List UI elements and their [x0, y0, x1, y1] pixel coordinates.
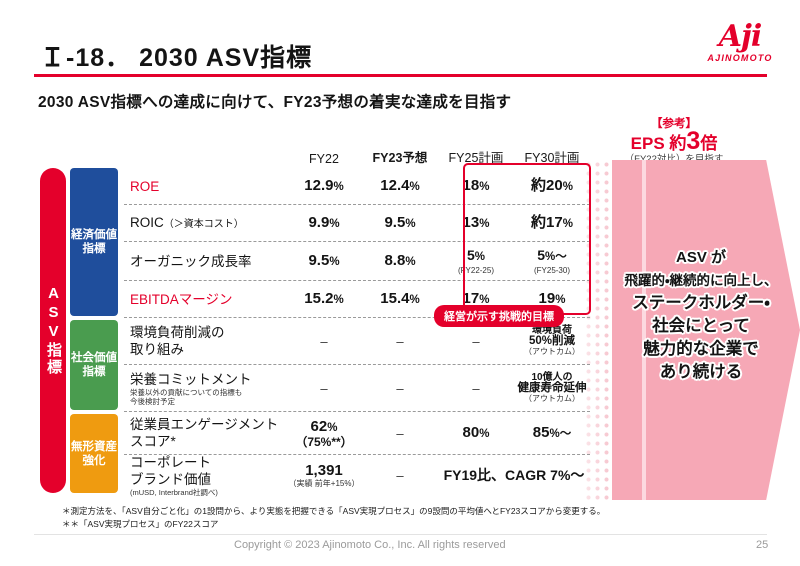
cell-value: 62: [311, 418, 328, 435]
column-header-fy25: FY25計画: [438, 147, 514, 168]
category-economic: 経済価値 指標: [70, 168, 118, 316]
page-title: Ｉ-18． 2030 ASV指標: [40, 38, 312, 74]
table-header-row: FY22 FY23予想 FY25計画 FY30計画: [124, 140, 590, 168]
row-label-engagement-text: 従業員エンゲージメント スコア*: [130, 417, 278, 449]
cell-value: 19: [539, 290, 556, 307]
cell-unit: %: [479, 428, 489, 440]
table-row: ROIC（＞資本コスト） 9.9% 9.5% 13% 約17%: [124, 205, 590, 242]
cell-value: 15.2: [304, 290, 333, 307]
vision-line-4: 社会にとって: [612, 315, 790, 338]
category-economic-label: 経済価値 指標: [71, 228, 117, 256]
cell-roe-fy22: 12.9%: [286, 177, 362, 196]
copyright-text: Copyright © 2023 Ajinomoto Co., Inc. All…: [234, 539, 506, 551]
category-social: 社会価値 指標: [70, 320, 118, 410]
vision-line-5: 魅力的な企業で: [612, 338, 790, 361]
footnote-1: ＊測定方法を、「ASV自分ごと化」の1設問から、より実態を把握できる「ASV実現…: [62, 505, 605, 517]
cell-unit: %: [333, 181, 343, 193]
cell-engagement-fy25: 80%: [438, 424, 514, 443]
category-intangible: 無形資産 強化: [70, 414, 118, 493]
logo-mark: Aji: [698, 22, 782, 52]
cell-nutrition-fy25: –: [438, 380, 514, 397]
cell-subnote: （アウトカム）: [514, 394, 590, 404]
row-label-nutrition: 栄養コミットメント栄養以外の貢献についての指標も 今後検討予定: [124, 371, 286, 406]
asv-rail-text: ASV指標: [43, 285, 63, 376]
row-label-roic-suffix: （＞資本コスト）: [164, 219, 244, 230]
cell-env-fy30: 環境負荷50%削減（アウトカム）: [514, 325, 590, 357]
cell-value: 9.9: [308, 214, 329, 231]
vision-line-2: 飛躍的・継続的に向上し、: [612, 269, 790, 292]
vision-line-1: ASV が: [612, 246, 790, 269]
cell-value: 約17: [531, 214, 563, 231]
slide-root: Aji AJINOMOTO Ｉ-18． 2030 ASV指標 2030 ASV指…: [0, 0, 800, 566]
cell-value: 12.4: [380, 177, 409, 194]
page-subtitle: 2030 ASV指標への達成に向けて、FY23予想の着実な達成を目指す: [38, 90, 511, 112]
cell-value: 15.4: [380, 290, 409, 307]
table-row: 従業員エンゲージメント スコア* 62%（75%**） – 80% 85%～: [124, 412, 590, 455]
row-label-ebitda-text: EBITDAマージン: [130, 292, 233, 307]
cell-value: 13: [463, 214, 480, 231]
cell-unit: %: [333, 294, 343, 306]
cell-unit: %: [479, 218, 489, 230]
footer-divider: [34, 534, 767, 535]
cell-roe-fy30: 約20%: [514, 177, 590, 196]
page-number: 25: [756, 539, 768, 551]
cell-subnote: (FY22-25): [438, 266, 514, 276]
eps-unit: 倍: [700, 134, 717, 153]
cell-value: 約20: [531, 177, 563, 194]
cell-nutrition-fy30: 10億人の健康寿命延伸（アウトカム）: [514, 372, 590, 404]
cell-unit: %: [555, 294, 565, 306]
eps-reference-tag: 【参考】: [604, 118, 744, 131]
cell-subnote: （アウトカム）: [514, 347, 590, 357]
row-label-roic: ROIC（＞資本コスト）: [124, 214, 286, 233]
cell-unit: %: [563, 218, 573, 230]
category-intangible-label: 無形資産 強化: [71, 440, 117, 468]
row-label-ebitda: EBITDAマージン: [124, 291, 286, 308]
cell-env-fy25: –: [438, 333, 514, 350]
cell-unit: %～: [545, 251, 567, 263]
cell-engagement-fy30: 85%～: [514, 424, 590, 443]
vision-arrow-panel: ASV が 飛躍的・継続的に向上し、 ステークホルダー・ 社会にとって 魅力的な…: [584, 160, 800, 500]
row-label-nutrition-text: 栄養コミットメント: [130, 372, 252, 387]
cell-organic-fy30: 5%～(FY25-30): [514, 247, 590, 276]
cell-brand-fy25-fy30-span: FY19比、CAGR 7%～: [438, 465, 590, 485]
cell-value: 9.5: [308, 252, 329, 269]
cell-subnote: （75%**）: [286, 437, 362, 448]
eps-label: EPS 約: [631, 134, 687, 153]
cell-roe-fy25: 18%: [438, 177, 514, 196]
cell-value: 1,391: [305, 462, 343, 479]
cell-organic-fy23: 8.8%: [362, 252, 438, 271]
cell-value: 8.8: [384, 252, 405, 269]
vision-statement: ASV が 飛躍的・継続的に向上し、 ステークホルダー・ 社会にとって 魅力的な…: [612, 246, 790, 384]
cell-roic-fy30: 約17%: [514, 214, 590, 233]
eps-callout: 【参考】 EPS 約3倍 （FY22対比）を目指す: [604, 118, 744, 166]
cell-engagement-fy23: –: [362, 425, 438, 442]
cell-value: 80: [463, 424, 480, 441]
cell-engagement-fy22: 62%（75%**）: [286, 418, 362, 448]
cell-brand-fy22: 1,391（実績 前年+15%）: [286, 462, 362, 489]
cell-unit: %: [563, 181, 573, 193]
cell-brand-fy23: –: [362, 467, 438, 484]
cell-value: 5: [467, 247, 475, 263]
cell-unit: %: [327, 422, 337, 434]
row-label-brand-value-note: (mUSD, Interbrand社調べ): [130, 488, 286, 497]
cell-ebitda-fy22: 15.2%: [286, 290, 362, 309]
cell-roic-fy22: 9.9%: [286, 214, 362, 233]
title-divider: [34, 74, 767, 77]
cell-organic-fy25: 5%(FY22-25): [438, 247, 514, 276]
cell-unit: %: [329, 256, 339, 268]
table-row: 栄養コミットメント栄養以外の貢献についての指標も 今後検討予定 – – – 10…: [124, 365, 590, 412]
cell-unit: %: [409, 181, 419, 193]
cell-env-fy22: –: [286, 333, 362, 350]
cell-unit: %: [475, 251, 485, 263]
vision-line-3: ステークホルダー・: [612, 292, 790, 315]
table-row: オーガニック成長率 9.5% 8.8% 5%(FY22-25) 5%～(FY25…: [124, 242, 590, 281]
cell-value: 9.5: [384, 214, 405, 231]
column-header-fy30: FY30計画: [514, 147, 590, 168]
row-label-brand-value-text: コーポレート ブランド価値: [130, 455, 211, 487]
cell-nutrition-fy22: –: [286, 380, 362, 397]
table-row: ROE 12.9% 12.4% 18% 約20%: [124, 168, 590, 205]
cell-value: 18: [463, 177, 480, 194]
row-label-engagement: 従業員エンゲージメント スコア*: [124, 416, 286, 450]
cell-unit: %: [479, 294, 489, 306]
row-label-roe-text: ROE: [130, 179, 159, 194]
cell-unit: %: [409, 294, 419, 306]
cell-subnote: （実績 前年+15%）: [286, 479, 362, 489]
cell-organic-fy22: 9.5%: [286, 252, 362, 271]
cell-value: 17: [463, 290, 480, 307]
asv-rail-label: ASV指標: [40, 168, 66, 493]
column-header-fy23: FY23予想: [362, 147, 438, 168]
cell-nutrition-fy23: –: [362, 380, 438, 397]
cell-unit: %～: [549, 428, 571, 440]
cell-ebitda-fy23: 15.4%: [362, 290, 438, 309]
vision-line-6: あり続ける: [612, 361, 790, 384]
cell-value: 5: [537, 247, 545, 263]
cell-env-fy23: –: [362, 333, 438, 350]
cell-roic-fy25: 13%: [438, 214, 514, 233]
row-label-brand-value: コーポレート ブランド価値(mUSD, Interbrand社調べ): [124, 454, 286, 497]
logo-wordmark: AJINOMOTO: [698, 53, 782, 63]
footnote-2: ＊＊「ASV実現プロセス」のFY22スコア: [62, 518, 218, 530]
table-row: コーポレート ブランド価値(mUSD, Interbrand社調べ) 1,391…: [124, 455, 590, 495]
cell-value-line2: 50%削減: [514, 336, 590, 347]
eps-value: 3: [686, 127, 700, 155]
challenging-target-badge: 経営が示す挑戦的目標: [434, 305, 564, 327]
cell-value: 85: [533, 424, 550, 441]
row-label-environment-text: 環境負荷削減の 取り組み: [130, 325, 225, 357]
cell-unit: %: [479, 181, 489, 193]
row-label-nutrition-note: 栄養以外の貢献についての指標も 今後検討予定: [130, 388, 286, 406]
column-header-fy22: FY22: [286, 152, 362, 168]
row-label-roe: ROE: [124, 178, 286, 195]
cell-roic-fy23: 9.5%: [362, 214, 438, 233]
cell-subnote: (FY25-30): [514, 266, 590, 276]
eps-headline: EPS 約3倍: [604, 131, 744, 154]
row-label-organic-growth: オーガニック成長率: [124, 253, 286, 270]
cell-unit: %: [405, 218, 415, 230]
cell-value-line2: 健康寿命延伸: [514, 383, 590, 394]
cell-unit: %: [405, 256, 415, 268]
ajinomoto-logo: Aji AJINOMOTO: [698, 22, 782, 68]
cell-roe-fy23: 12.4%: [362, 177, 438, 196]
cell-value: 12.9: [304, 177, 333, 194]
category-social-label: 社会価値 指標: [71, 351, 117, 379]
row-label-organic-growth-text: オーガニック成長率: [130, 254, 252, 269]
row-label-environment: 環境負荷削減の 取り組み: [124, 324, 286, 358]
row-label-roic-text: ROIC: [130, 215, 164, 230]
cell-unit: %: [329, 218, 339, 230]
